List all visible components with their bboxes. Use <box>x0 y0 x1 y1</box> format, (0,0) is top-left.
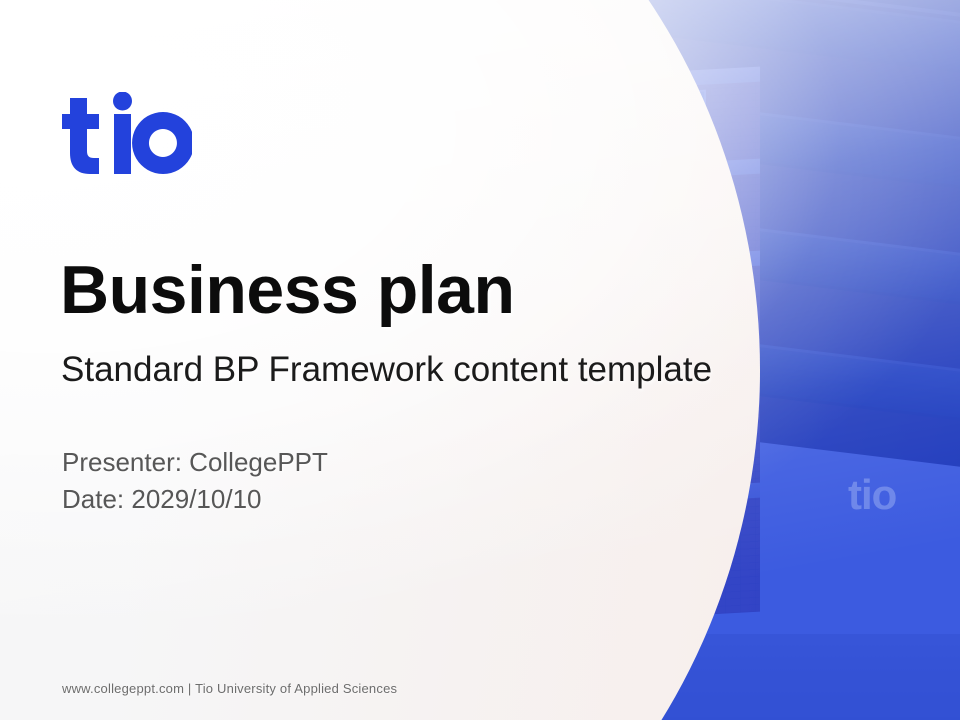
presentation-meta: Presenter: CollegePPT Date: 2029/10/10 <box>62 444 328 518</box>
tio-logo-icon <box>62 92 192 176</box>
slide-footer: www.collegeppt.com | Tio University of A… <box>62 681 397 696</box>
building-signage-tio: tio <box>848 474 896 516</box>
page-subtitle: Standard BP Framework content template <box>61 352 712 387</box>
title-slide: tio Business plan Standard BP Framework … <box>0 0 960 720</box>
page-title: Business plan <box>60 256 515 324</box>
tio-logo <box>62 92 192 176</box>
date-line: Date: 2029/10/10 <box>62 481 328 518</box>
presenter-line: Presenter: CollegePPT <box>62 444 328 481</box>
